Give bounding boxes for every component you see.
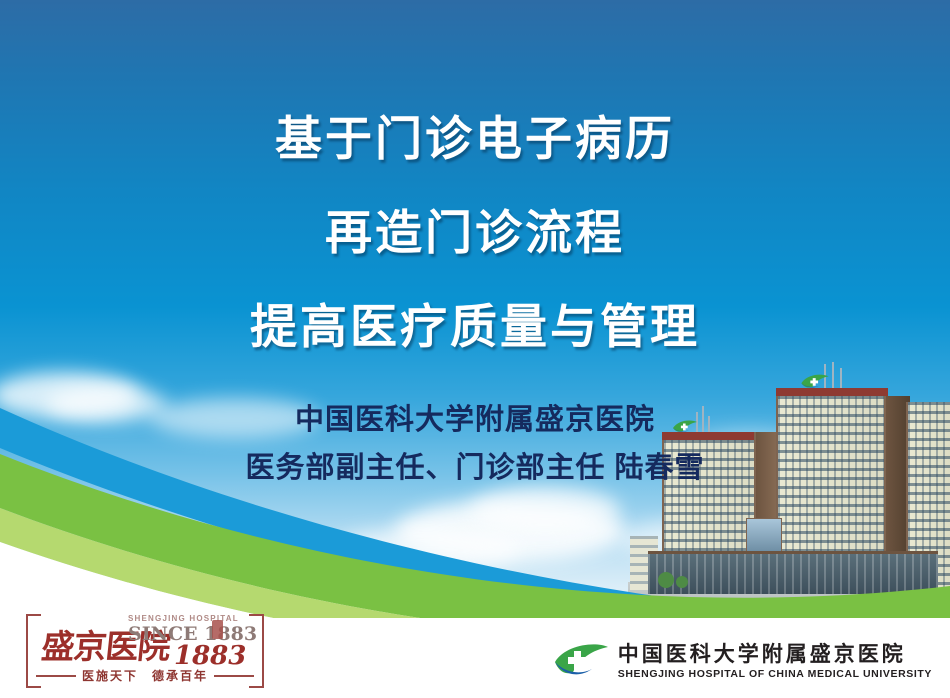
tree	[658, 572, 674, 588]
logo-motto: 医施天下 德承百年	[82, 667, 208, 684]
logo-motto-row: 医施天下 德承百年	[36, 667, 254, 684]
rooftop-logo-icon	[800, 373, 830, 390]
slide-subtitle: 中国医科大学附属盛京医院 医务部副主任、门诊部主任 陆春雪	[0, 396, 950, 492]
presentation-slide: 基于门诊电子病历 再造门诊流程 提高医疗质量与管理 中国医科大学附属盛京医院 医…	[0, 0, 950, 698]
rule-line	[36, 675, 76, 677]
shengjing-hospital-logo: 盛京医院 SHENGJING HOSPITAL SINCE 1883 1883 …	[24, 608, 266, 692]
hospital-emblem-icon	[553, 642, 609, 680]
tower-roof-band	[776, 388, 888, 396]
logo-name-en: SHENGJING HOSPITAL OF CHINA MEDICAL UNIV…	[618, 668, 932, 680]
title-line-3: 提高医疗质量与管理	[0, 280, 950, 374]
title-line-1: 基于门诊电子病历	[0, 92, 950, 186]
seal-stamp-icon	[212, 620, 223, 639]
slide-title: 基于门诊电子病历 再造门诊流程 提高医疗质量与管理	[0, 92, 950, 374]
logo-name-cn: 中国医科大学附属盛京医院	[618, 643, 932, 667]
logo-text-block: 中国医科大学附属盛京医院 SHENGJING HOSPITAL OF CHINA…	[618, 643, 932, 680]
title-line-2: 再造门诊流程	[0, 186, 950, 280]
china-medical-university-logo: 中国医科大学附属盛京医院 SHENGJING HOSPITAL OF CHINA…	[553, 638, 932, 684]
rule-line	[214, 675, 254, 677]
subtitle-line-1: 中国医科大学附属盛京医院	[0, 396, 950, 444]
subtitle-line-2: 医务部副主任、门诊部主任 陆春雪	[0, 444, 950, 492]
podium-facade	[648, 551, 938, 594]
tree	[676, 576, 688, 588]
